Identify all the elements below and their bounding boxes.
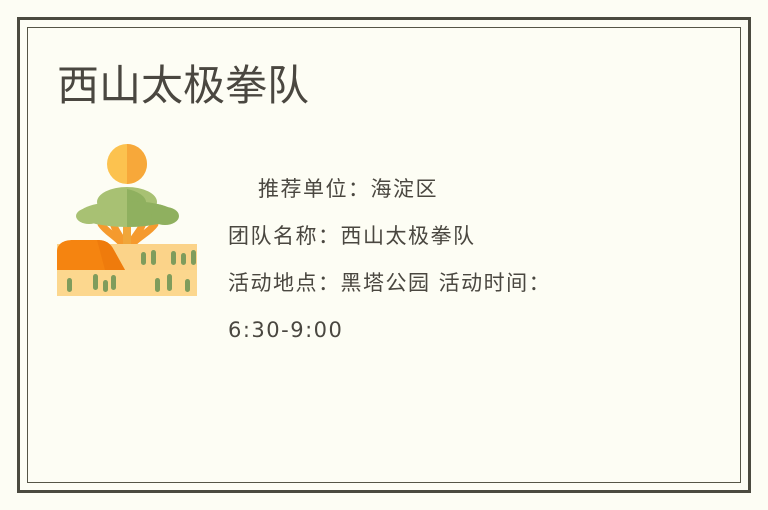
info-line-recommending-unit: 推荐单位：海淀区 bbox=[228, 166, 580, 213]
tree-canopy bbox=[76, 187, 179, 227]
card-page: 西山太极拳队 bbox=[0, 0, 768, 510]
sun-icon bbox=[107, 144, 147, 184]
team-info-block: 推荐单位：海淀区 团队名称：西山太极拳队 活动地点：黑塔公园 活动时间：6:30… bbox=[228, 166, 580, 354]
info-line-team-name: 团队名称：西山太极拳队 bbox=[228, 213, 580, 260]
savanna-acacia-tree-icon bbox=[57, 140, 197, 296]
page-title: 西山太极拳队 bbox=[57, 60, 309, 112]
ground-lower bbox=[57, 270, 197, 296]
info-line-location-and-time: 活动地点：黑塔公园 活动时间：6:30-9:00 bbox=[228, 260, 580, 354]
